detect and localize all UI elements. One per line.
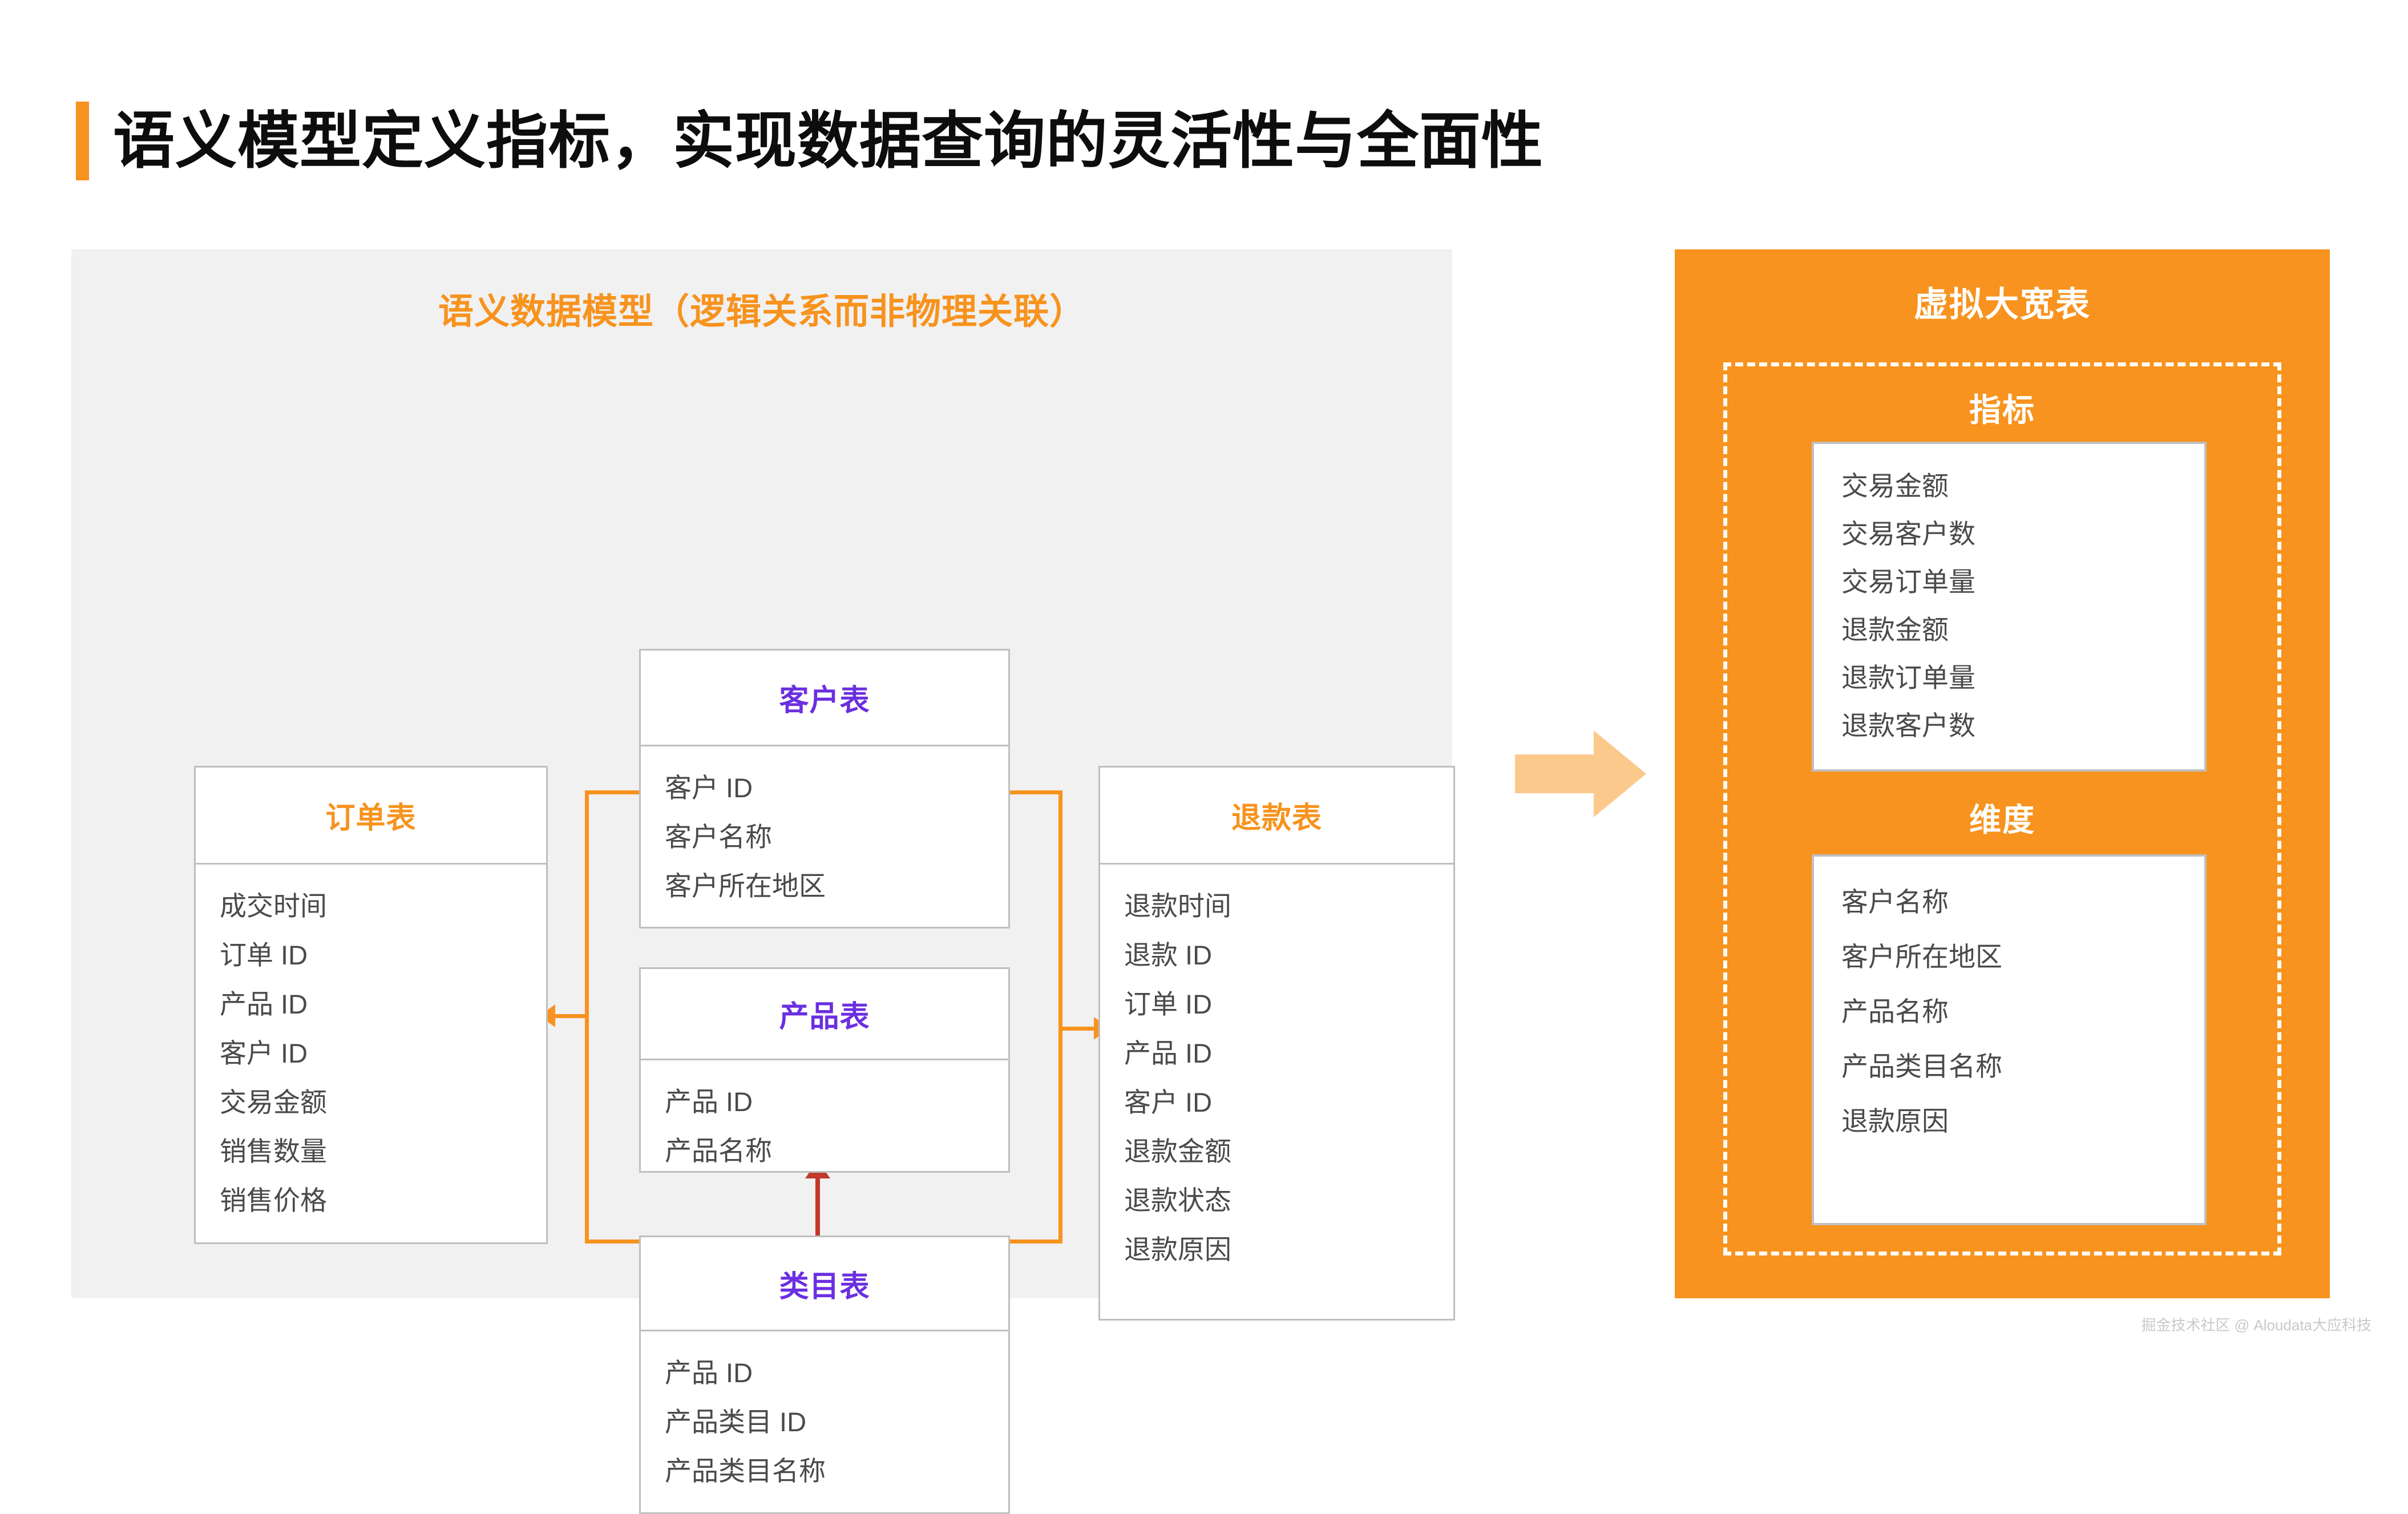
table-field: 销售价格 [220, 1176, 546, 1225]
dimensions-section-title: 维度 [1727, 794, 2277, 841]
virtual-wide-table-title: 虚拟大宽表 [1675, 277, 2330, 326]
dimension-item: 客户名称 [1841, 875, 2204, 930]
table-field: 客户名称 [665, 813, 1008, 862]
table-fields-product: 产品 ID 产品名称 [641, 1060, 1008, 1176]
table-field: 退款状态 [1124, 1176, 1453, 1225]
dimension-item: 客户所在地区 [1841, 930, 2204, 984]
table-field: 客户 ID [1124, 1078, 1453, 1127]
table-card-product[interactable]: 产品表 产品 ID 产品名称 [639, 967, 1010, 1173]
table-field: 订单 ID [220, 931, 546, 980]
table-card-order[interactable]: 订单表 成交时间 订单 ID 产品 ID 客户 ID 交易金额 销售数量 销售价… [194, 766, 548, 1244]
dimension-item: 产品类目名称 [1841, 1039, 2204, 1094]
footer-watermark: 掘金技术社区 @ Aloudata大应科技 [2142, 1314, 2371, 1335]
metric-item: 交易金额 [1841, 462, 2204, 510]
connector-right-top [1006, 790, 1062, 794]
metrics-section-title: 指标 [1727, 385, 2277, 431]
metric-item: 退款客户数 [1841, 702, 2204, 750]
table-field: 退款原因 [1124, 1225, 1453, 1274]
semantic-model-panel-title: 语义数据模型（逻辑关系而非物理关联） [71, 282, 1452, 334]
connector-left-top [585, 790, 645, 794]
table-header-customer: 客户表 [641, 651, 1008, 746]
connector-left-bottom [585, 1240, 645, 1244]
table-header-category: 类目表 [641, 1237, 1008, 1331]
table-field: 退款时间 [1124, 882, 1453, 931]
table-field: 销售数量 [220, 1127, 546, 1176]
table-header-refund: 退款表 [1100, 768, 1453, 865]
page-title: 语义模型定义指标，实现数据查询的灵活性与全面性 [113, 108, 1544, 173]
connector-right-bottom [1006, 1240, 1062, 1244]
table-title-order: 订单表 [325, 794, 416, 837]
flow-right-arrow-icon [1515, 730, 1646, 817]
connector-right-stem [1058, 1027, 1096, 1031]
metric-item: 退款金额 [1841, 606, 2204, 654]
table-card-category[interactable]: 类目表 产品 ID 产品类目 ID 产品类目名称 [639, 1236, 1010, 1514]
dimension-item: 产品名称 [1841, 984, 2204, 1039]
table-field: 产品 ID [1124, 1029, 1453, 1078]
semantic-model-panel: 语义数据模型（逻辑关系而非物理关联） 订单表 成交时间 订单 ID 产品 ID … [71, 249, 1452, 1298]
table-field: 客户 ID [220, 1029, 546, 1078]
table-field: 产品 ID [665, 1077, 1008, 1127]
table-field: 成交时间 [220, 882, 546, 931]
table-field: 产品类目 ID [665, 1398, 1008, 1447]
table-header-product: 产品表 [641, 969, 1008, 1060]
table-header-order: 订单表 [196, 768, 546, 865]
virtual-wide-table-panel: 虚拟大宽表 指标 交易金额 交易客户数 交易订单量 退款金额 退款订单量 退款客… [1675, 249, 2330, 1298]
table-field: 产品类目名称 [665, 1447, 1008, 1496]
table-fields-category: 产品 ID 产品类目 ID 产品类目名称 [641, 1331, 1008, 1496]
wide-table-dashed-container: 指标 交易金额 交易客户数 交易订单量 退款金额 退款订单量 退款客户数 维度 … [1723, 362, 2281, 1255]
table-field: 客户所在地区 [665, 862, 1008, 911]
table-card-refund[interactable]: 退款表 退款时间 退款 ID 订单 ID 产品 ID 客户 ID 退款金额 退款… [1098, 766, 1455, 1321]
table-field: 订单 ID [1124, 980, 1453, 1029]
table-field: 交易金额 [220, 1078, 546, 1127]
page-header: 语义模型定义指标，实现数据查询的灵活性与全面性 [76, 102, 1544, 180]
metrics-card[interactable]: 交易金额 交易客户数 交易订单量 退款金额 退款订单量 退款客户数 [1812, 442, 2207, 772]
table-fields-order: 成交时间 订单 ID 产品 ID 客户 ID 交易金额 销售数量 销售价格 [196, 865, 546, 1225]
table-field: 产品 ID [665, 1349, 1008, 1398]
table-title-refund: 退款表 [1231, 794, 1322, 837]
table-fields-refund: 退款时间 退款 ID 订单 ID 产品 ID 客户 ID 退款金额 退款状态 退… [1100, 865, 1453, 1274]
metric-item: 交易客户数 [1841, 510, 2204, 558]
table-field: 退款 ID [1124, 931, 1453, 980]
table-field: 产品名称 [665, 1127, 1008, 1176]
table-fields-customer: 客户 ID 客户名称 客户所在地区 [641, 746, 1008, 911]
connector-category-product [815, 1173, 820, 1237]
table-field: 客户 ID [665, 764, 1008, 813]
table-title-customer: 客户表 [779, 676, 870, 719]
metric-item: 交易订单量 [1841, 558, 2204, 606]
title-accent-bar [76, 102, 89, 180]
dimension-item: 退款原因 [1841, 1094, 2204, 1149]
table-field: 产品 ID [220, 980, 546, 1029]
table-title-product: 产品表 [779, 992, 870, 1035]
table-title-category: 类目表 [779, 1262, 870, 1305]
table-field: 退款金额 [1124, 1127, 1453, 1176]
connector-right-vertical [1058, 790, 1062, 1244]
table-card-customer[interactable]: 客户表 客户 ID 客户名称 客户所在地区 [639, 649, 1010, 928]
metric-item: 退款订单量 [1841, 654, 2204, 702]
dimensions-card[interactable]: 客户名称 客户所在地区 产品名称 产品类目名称 退款原因 [1812, 854, 2207, 1225]
